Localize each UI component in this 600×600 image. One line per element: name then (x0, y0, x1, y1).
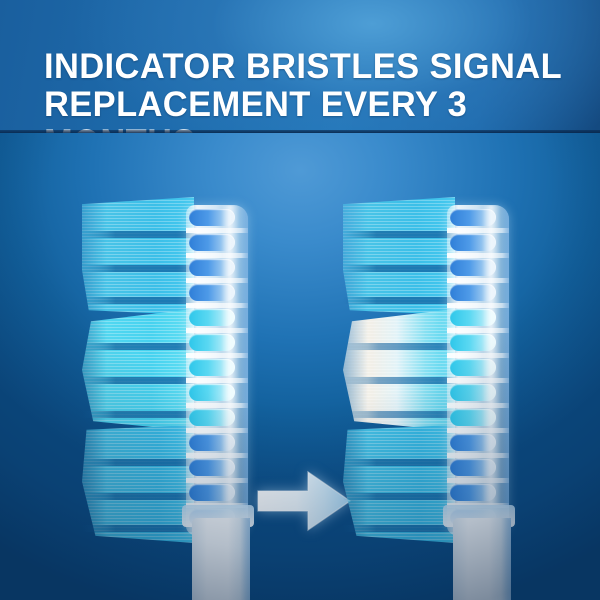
brush-handle-worn (453, 518, 511, 600)
toothbrush-worn: Worn brush - indicator bristles faded to… (343, 133, 543, 600)
brush-state-label-new: New brush - indicator bristles still col… (82, 133, 83, 134)
toothbrush-new: New brush - indicator bristles still col… (82, 133, 282, 600)
bristle-fan-worn (343, 197, 455, 543)
product-feature-image: INDICATOR BRISTLES SIGNAL REPLACEMENT EV… (0, 0, 600, 600)
bristle-fan-new (82, 197, 194, 543)
product-photo-area: New brush - indicator bristles still col… (0, 133, 600, 600)
page-title: INDICATOR BRISTLES SIGNAL REPLACEMENT EV… (44, 48, 576, 133)
brush-head-worn (447, 205, 509, 535)
headline-band: INDICATOR BRISTLES SIGNAL REPLACEMENT EV… (0, 0, 600, 133)
brush-handle-new (192, 518, 250, 600)
brush-head-new (186, 205, 248, 535)
right-arrow-icon (256, 469, 352, 533)
brush-state-label-worn: Worn brush - indicator bristles faded to… (343, 133, 344, 134)
